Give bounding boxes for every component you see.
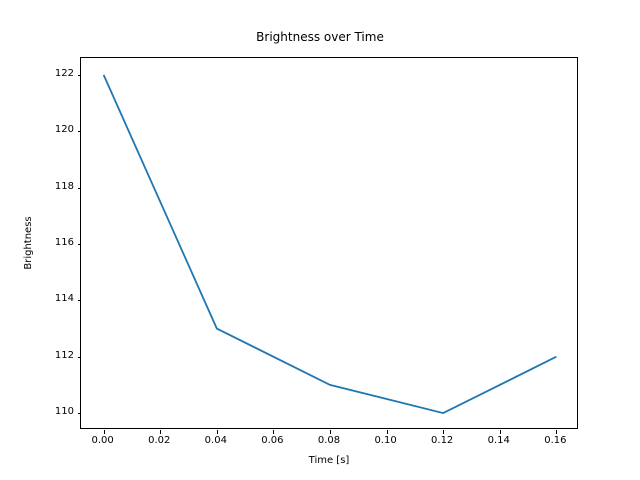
x-tick-mark — [387, 430, 388, 434]
x-tick-label: 0.10 — [356, 435, 416, 447]
brightness-line-series — [104, 75, 557, 413]
y-tick-mark — [78, 244, 82, 245]
x-tick-label: 0.08 — [299, 435, 359, 447]
y-tick-mark — [78, 300, 82, 301]
y-tick-mark — [78, 357, 82, 358]
x-tick-label: 0.14 — [469, 435, 529, 447]
x-tick-mark — [217, 430, 218, 434]
y-tick-mark — [78, 188, 82, 189]
y-tick-mark — [78, 75, 82, 76]
x-axis-label: Time [s] — [80, 455, 578, 467]
plot-axes-area — [80, 57, 578, 429]
line-plot-svg — [81, 58, 579, 430]
y-axis-label: Brightness — [22, 57, 36, 429]
x-tick-label: 0.12 — [412, 435, 472, 447]
x-tick-mark — [160, 430, 161, 434]
y-tick-label: 122 — [34, 69, 74, 79]
x-tick-label: 0.02 — [129, 435, 189, 447]
y-tick-label: 112 — [34, 351, 74, 361]
x-tick-mark — [443, 430, 444, 434]
y-tick-mark — [78, 131, 82, 132]
x-tick-mark — [104, 430, 105, 434]
x-tick-label: 0.04 — [186, 435, 246, 447]
x-tick-mark — [273, 430, 274, 434]
x-tick-mark — [500, 430, 501, 434]
y-tick-mark — [78, 413, 82, 414]
x-tick-label: 0.16 — [525, 435, 585, 447]
y-tick-label: 120 — [34, 125, 74, 135]
x-tick-label: 0.06 — [242, 435, 302, 447]
y-tick-label: 116 — [34, 238, 74, 248]
y-tick-label: 110 — [34, 407, 74, 417]
y-tick-label: 114 — [34, 294, 74, 304]
chart-title: Brightness over Time — [0, 29, 640, 45]
x-tick-mark — [330, 430, 331, 434]
x-tick-mark — [556, 430, 557, 434]
x-tick-label: 0.00 — [73, 435, 133, 447]
chart-figure: Brightness over Time 1101121141161181201… — [0, 0, 640, 480]
y-tick-label: 118 — [34, 182, 74, 192]
x-axis-tick-labels: 0.000.020.040.060.080.100.120.140.16 — [80, 435, 578, 449]
